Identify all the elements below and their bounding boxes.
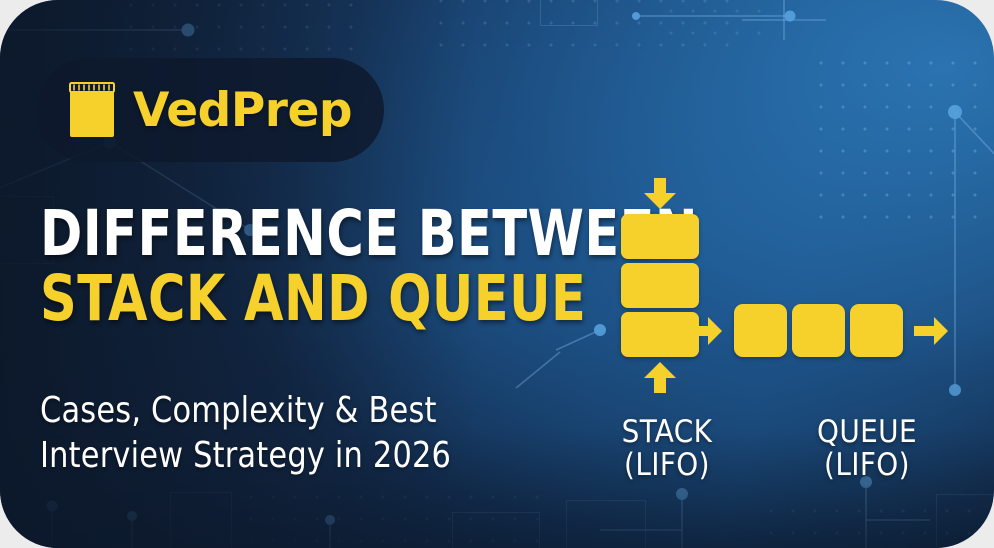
stack-diagram-group (614, 178, 706, 393)
queue-box (850, 304, 903, 357)
stack-box (621, 214, 699, 259)
queue-box-list (734, 304, 903, 357)
dot-grid-bottom-right (760, 500, 994, 548)
outline-square-bottom-center (452, 512, 540, 548)
logo-wordmark: VedPrep (133, 87, 352, 134)
subtitle-line-2: Interview Strategy in 2026 (40, 433, 451, 478)
banner-card: VedPrep DIFFERENCE BETWEEN STACK AND QUE… (0, 0, 994, 548)
outline-square-bottom-middle (566, 500, 646, 548)
outline-square-bottom-right (936, 494, 994, 548)
queue-label: QUEUE (LIFO) (772, 416, 962, 481)
outline-square-left-lower (170, 492, 232, 548)
dot-grid-bottom-left (240, 486, 540, 548)
logo-badge[interactable]: VedPrep (36, 58, 384, 162)
stack-box (621, 263, 699, 308)
arrow-right-icon (914, 316, 949, 346)
stack-label: STACK (LIFO) (572, 416, 762, 481)
stack-queue-diagram: STACK (LIFO) QUEUE (LIFO) (580, 178, 980, 488)
dot-grid-top-middle (430, 0, 730, 56)
queue-diagram-group (688, 304, 949, 357)
arrow-up-icon (643, 361, 677, 393)
subtitle-line-1: Cases, Complexity & Best (40, 388, 451, 433)
page-subtitle: Cases, Complexity & Best Interview Strat… (40, 388, 477, 478)
queue-box (792, 304, 845, 357)
arrow-right-icon (688, 316, 723, 346)
dot-grid-top-strip (660, 0, 780, 46)
outline-square-top-middle (540, 0, 598, 26)
queue-box (734, 304, 787, 357)
dot-grid-top-left (120, 0, 370, 54)
notebook-icon (68, 81, 116, 139)
arrow-down-icon (643, 178, 677, 210)
